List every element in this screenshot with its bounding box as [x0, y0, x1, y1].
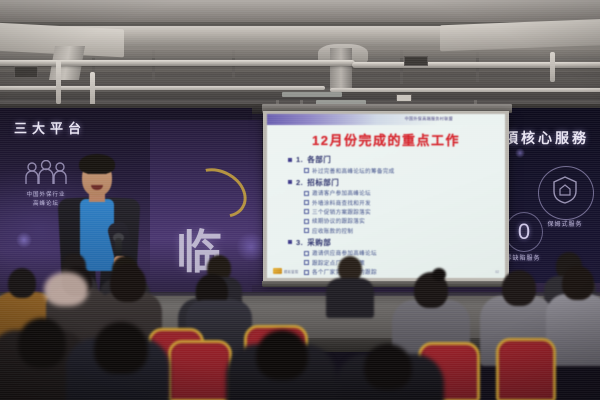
slide-page-number: 02 [495, 270, 499, 274]
slide-body: 1. 各部门 补过完善和高峰论坛的筹备完成 2. 招标部门 邀请客户参加高峰论坛… [288, 152, 493, 277]
audience-head [562, 266, 594, 300]
slide-footer-logo-text: 精彩呈现 [284, 269, 298, 274]
bullet-hollow-icon [304, 209, 309, 214]
slide-list-item: 补过完善和高峰论坛的筹备完成 [304, 167, 493, 175]
ceiling-pipe [330, 88, 600, 92]
ceiling-pipe [352, 62, 600, 68]
ceiling-pipe [550, 52, 555, 82]
audience-body [326, 278, 374, 318]
screen-bottom-bar [262, 281, 510, 287]
hvac-duct-drop [330, 48, 352, 90]
badge-ring [538, 166, 594, 220]
slide-list-item: 各个厂家完成情况的跟踪 [304, 268, 493, 276]
bullet-hollow-icon [304, 251, 309, 256]
ceiling-pipe [56, 60, 61, 104]
bullet-square-icon [288, 240, 292, 244]
slide-section-heading: 1. 各部门 [288, 154, 493, 165]
slide-section-title: 采购部 [307, 237, 331, 248]
slide-section-title: 各部门 [307, 154, 331, 165]
slide-list-item: 外墙涂料商查找和开发 [304, 199, 493, 207]
bullet-hollow-icon [304, 219, 309, 224]
ceiling-pipe [90, 72, 95, 108]
slide-section-number: 1. [296, 155, 303, 164]
electrical-box [396, 94, 412, 102]
audience-head [502, 270, 536, 306]
slide-header-bar [267, 114, 505, 125]
audience-hood [44, 272, 88, 306]
slide-section-heading: 2. 招标部门 [288, 177, 493, 188]
wall-light-dot [16, 232, 32, 248]
conference-photo-scene: 三大平台 中国外保行业 高峰论坛 临 三項核心服務 保姆式服务 0 零缺陷服务 … [0, 0, 600, 400]
slide-section-number: 2. [296, 178, 303, 187]
slide-list-item: 邀请供应商参加高峰论坛 [304, 249, 493, 257]
wall-light-dot [515, 148, 525, 158]
slide-list-item: 跟踪定点厂家的政策 [304, 259, 493, 267]
chair-cushion [173, 346, 227, 397]
presenter-hair [79, 154, 115, 174]
slide-list-item-text: 应收账款的控制 [312, 227, 353, 235]
audience-head [364, 344, 412, 390]
bullet-hollow-icon [304, 168, 309, 173]
slide-title: 12月份完成的重点工作 [267, 130, 505, 149]
electrical-box [14, 66, 38, 78]
bullet-hollow-icon [304, 270, 309, 275]
zero-icon: 0 [505, 212, 543, 252]
bullet-hollow-icon [304, 260, 309, 265]
ceiling-pipe [0, 86, 325, 90]
slide-list-item: 应收账款的控制 [304, 227, 493, 235]
slide-logo-mark-icon [273, 268, 282, 274]
ceiling-pipe [0, 60, 355, 66]
presenter-eye [87, 172, 91, 174]
slide-list-item-text: 续期协议的跟踪落实 [312, 217, 365, 225]
bullet-square-icon [288, 180, 292, 184]
audience-head [110, 264, 146, 302]
slide-header-text: 中国外保高端服务村联盟 [405, 116, 453, 122]
slide-footer-logo: 精彩呈现 [273, 268, 298, 274]
slide-list-item-text: 邀请客户参加高峰论坛 [312, 189, 371, 197]
bullet-hollow-icon [304, 228, 309, 233]
bullet-square-icon [288, 158, 292, 162]
audience-head [8, 268, 36, 298]
bullet-hollow-icon [304, 200, 309, 205]
slide-list-item-text: 补过完善和高峰论坛的筹备完成 [312, 167, 395, 175]
audience-head [94, 322, 148, 374]
audience-head [18, 318, 66, 368]
audience-hair-bun [432, 268, 446, 281]
slide-list-item-text: 三个促销方案跟踪落实 [312, 208, 371, 216]
slide-section-heading: 3. 采购部 [288, 237, 493, 248]
electrical-box [404, 56, 428, 66]
brand-glow [236, 232, 266, 262]
slide-list-item: 三个促销方案跟踪落实 [304, 208, 493, 216]
slide-list-item: 续期协议的跟踪落实 [304, 217, 493, 225]
audience-body-coat [524, 350, 600, 400]
fluorescent-lamp [282, 92, 342, 97]
presenter-eye [103, 172, 107, 174]
slide-section-number: 3. [296, 238, 303, 247]
bullet-hollow-icon [304, 191, 309, 196]
slide-section-title: 招标部门 [307, 177, 339, 188]
audience-head [256, 330, 308, 380]
slide-list-item: 邀请客户参加高峰论坛 [304, 189, 493, 197]
ceiling [0, 0, 600, 112]
banquet-chair [168, 340, 232, 400]
wall-banner-left-title: 三大平台 [14, 118, 86, 137]
projection-screen: 中国外保高端服务村联盟 12月份完成的重点工作 1. 各部门 补过完善和高峰论坛… [267, 114, 505, 278]
slide-list-item-text: 外墙涂料商查找和开发 [312, 199, 371, 207]
